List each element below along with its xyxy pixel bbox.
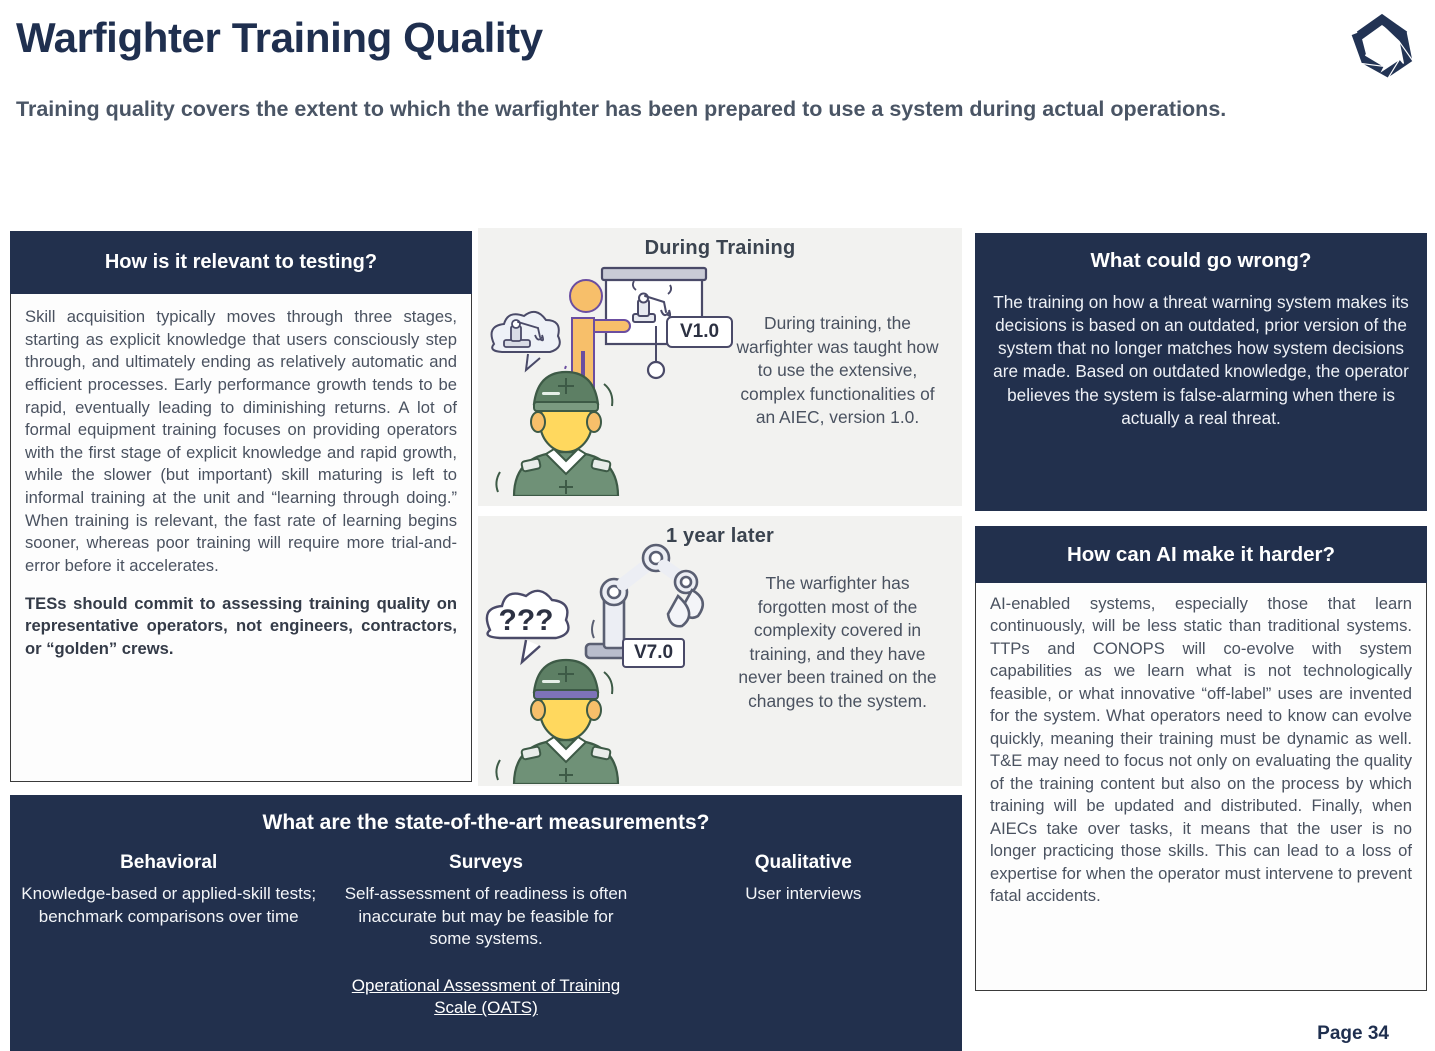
measurement-column-head: Behavioral <box>20 852 317 874</box>
how-can-ai-make-it-harder-body: AI-enabled systems, especially those tha… <box>975 583 1427 991</box>
one-year-later-card: 1 year later <box>478 516 962 786</box>
during-training-card: During Training <box>478 228 962 506</box>
version-badge-v1: V1.0 <box>666 316 733 348</box>
measurement-column-head: Qualitative <box>655 852 952 874</box>
relevance-panel-body: Skill acquisition typically moves throug… <box>10 294 472 782</box>
measurement-column-text: User interviews <box>655 883 952 906</box>
measurements-panel: What are the state-of-the-art measuremen… <box>10 795 962 1051</box>
what-could-go-wrong-paragraph: The training on how a threat warning sys… <box>993 291 1409 430</box>
relevance-bold-paragraph: TESs should commit to assessing training… <box>25 593 457 661</box>
measurement-column-text: Knowledge-based or applied-skill tests; … <box>20 883 317 928</box>
measurement-column-surveys: Surveys Self-assessment of readiness is … <box>327 852 644 1020</box>
measurement-column-head: Surveys <box>337 852 634 874</box>
version-badge-v7: V7.0 <box>622 638 685 668</box>
page-title: Warfighter Training Quality <box>16 14 543 62</box>
what-could-go-wrong-body: The training on how a threat warning sys… <box>975 289 1427 511</box>
relevance-paragraph: Skill acquisition typically moves throug… <box>25 306 457 578</box>
measurement-column-qualitative: Qualitative User interviews <box>645 852 962 1020</box>
one-year-later-illustration: ??? <box>478 534 728 784</box>
svg-text:???: ??? <box>499 604 554 637</box>
one-year-later-text: The warfighter has forgotten most of the… <box>730 572 945 713</box>
oats-link[interactable]: Operational Assessment of Training Scale… <box>337 975 634 1020</box>
relevance-panel: How is it relevant to testing? Skill acq… <box>10 231 472 782</box>
measurements-heading: What are the state-of-the-art measuremen… <box>10 795 962 835</box>
page-number: Page 34 <box>1317 1023 1389 1045</box>
measurement-column-text: Self-assessment of readiness is often in… <box>337 883 634 951</box>
how-can-ai-make-it-harder-panel: How can AI make it harder? AI-enabled sy… <box>975 526 1427 991</box>
during-training-illustration <box>478 246 728 496</box>
how-can-ai-make-it-harder-paragraph: AI-enabled systems, especially those tha… <box>990 593 1412 908</box>
what-could-go-wrong-panel: What could go wrong? The training on how… <box>975 233 1427 511</box>
relevance-panel-heading: How is it relevant to testing? <box>10 231 472 294</box>
page-subtitle: Training quality covers the extent to wh… <box>16 94 1346 125</box>
during-training-text: During training, the warfighter was taug… <box>730 312 945 430</box>
what-could-go-wrong-heading: What could go wrong? <box>975 233 1427 289</box>
training-story-column: During Training <box>478 228 962 786</box>
measurements-columns: Behavioral Knowledge-based or applied-sk… <box>10 852 962 1020</box>
ida-pentagon-logo-icon <box>1345 8 1419 82</box>
how-can-ai-make-it-harder-heading: How can AI make it harder? <box>975 526 1427 583</box>
measurement-column-behavioral: Behavioral Knowledge-based or applied-sk… <box>10 852 327 1020</box>
